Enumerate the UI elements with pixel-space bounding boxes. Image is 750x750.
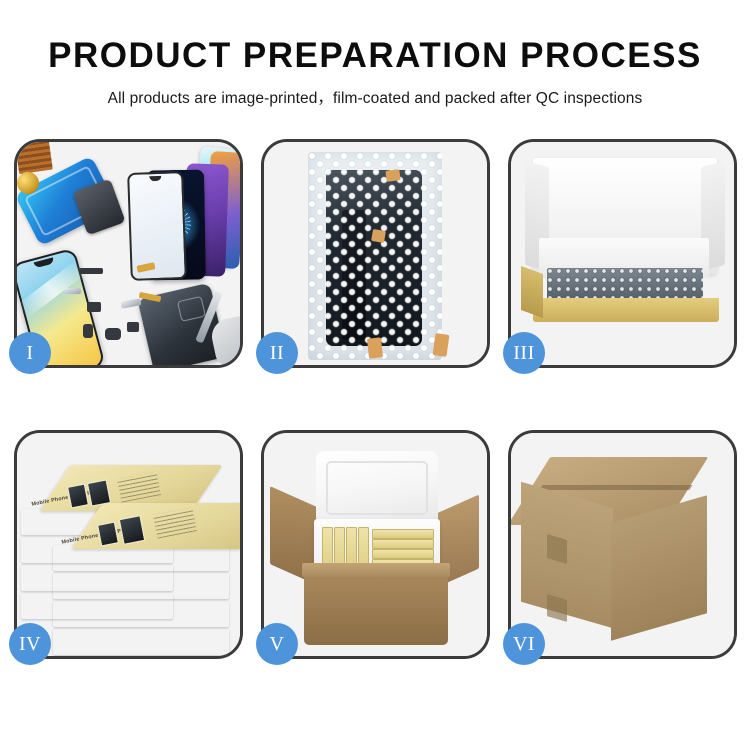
tape-piece [371, 229, 386, 243]
step-image-1 [17, 142, 240, 365]
step-image-6 [511, 433, 734, 656]
step-image-2 [264, 142, 487, 365]
step-badge-6: VI [503, 623, 545, 665]
step-caption-2: Individual LCD screen assembly sealed in… [264, 142, 265, 143]
bubble-wrapped-contents [547, 268, 703, 302]
logic-board-part [17, 142, 53, 174]
cardboard-carton [304, 573, 448, 645]
step-image-5 [264, 433, 487, 656]
step-caption-5: Yellow boxes loaded into white foam box … [264, 433, 265, 434]
step-badge-4: IV [9, 623, 51, 665]
carton-front-face [521, 482, 613, 628]
page-header: PRODUCT PREPARATION PROCESS All products… [0, 0, 750, 108]
step-badge-2: II [256, 332, 298, 374]
page-subtitle: All products are image-printed，film-coat… [0, 86, 750, 108]
carton-tab [547, 594, 567, 622]
step-caption-3: Bubble-wrapped items placed into yellow … [511, 142, 512, 143]
tape-piece [433, 333, 450, 357]
process-step-card-1: I Mobile phones, LCD screens, tempered g… [14, 139, 243, 368]
metal-bracket-part [65, 288, 81, 294]
kraft-box-side [521, 266, 543, 318]
box-edge [53, 573, 229, 599]
box-edge [53, 601, 229, 627]
process-steps-grid: I Mobile phones, LCD screens, tempered g… [14, 139, 736, 659]
step-image-4: Mobile Phone Spare Parts Mobile Phone Sp… [17, 433, 240, 656]
tape-piece [367, 337, 383, 358]
tempered-glass-protector [127, 171, 187, 281]
box-edge [53, 629, 229, 655]
process-step-card-6: VI Sealed brown cardboard shipping carto… [508, 430, 737, 659]
process-step-card-3: III Bubble-wrapped items placed into yel… [508, 139, 737, 368]
step-badge-3: III [503, 332, 545, 374]
connector-part [87, 302, 101, 312]
step-caption-4: Stack of sealed kraft boxes printed with… [17, 433, 18, 434]
bubble-wrap-bag [308, 152, 442, 360]
yellow-box-item [372, 549, 434, 559]
small-part-strip [79, 268, 103, 274]
carton-top-seam [539, 485, 692, 490]
process-step-card-4: Mobile Phone Spare Parts Mobile Phone Sp… [14, 430, 243, 659]
page-title: PRODUCT PREPARATION PROCESS [0, 38, 750, 73]
kraft-box-front [533, 298, 719, 322]
yellow-box-item [372, 529, 434, 539]
box-window-graphic [97, 521, 119, 546]
box-window-graphic [67, 483, 89, 508]
bubble-texture [308, 152, 442, 360]
tape-piece [385, 169, 400, 182]
vibrator-part [127, 322, 139, 332]
step-caption-6: Sealed brown cardboard shipping carton r… [511, 433, 512, 434]
foam-box-lid [316, 451, 438, 525]
process-step-card-5: V Yellow boxes loaded into white foam bo… [261, 430, 490, 659]
camera-module-part [105, 328, 121, 340]
step-image-3 [511, 142, 734, 365]
box-window-graphic [119, 515, 146, 545]
yellow-box-item [372, 539, 434, 549]
step-badge-1: I [9, 332, 51, 374]
step-badge-5: V [256, 623, 298, 665]
battery-part [83, 324, 93, 338]
process-step-card-2: II Individual LCD screen assembly sealed… [261, 139, 490, 368]
